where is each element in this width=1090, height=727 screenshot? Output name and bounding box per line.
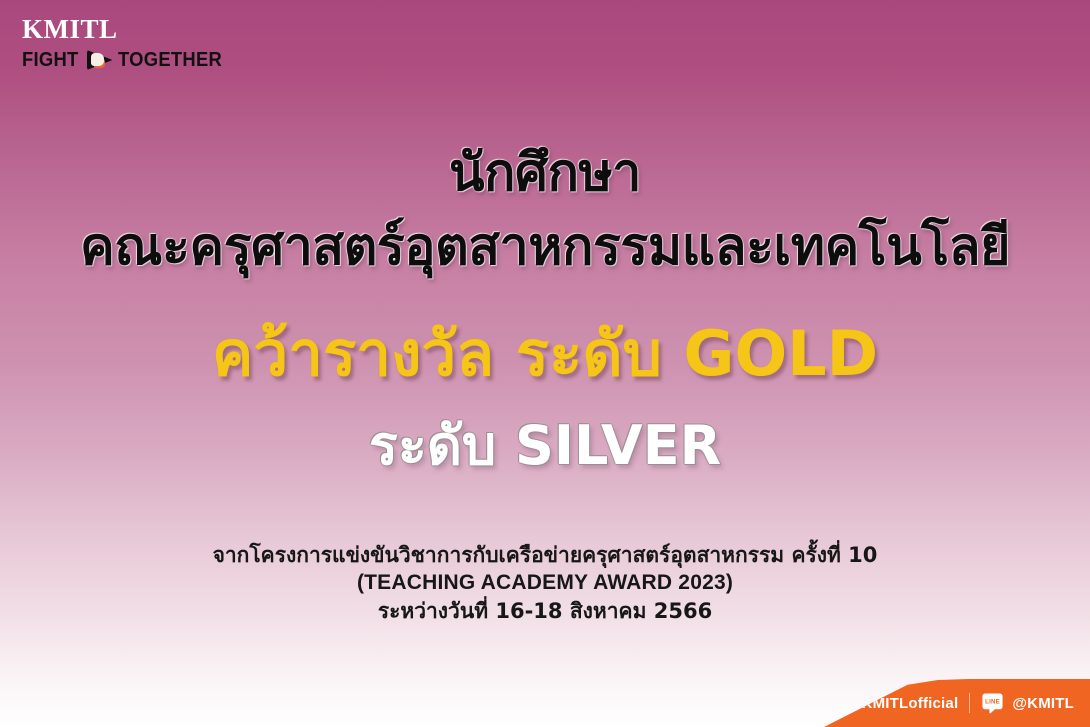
award-silver-text: ระดับ SILVER	[0, 402, 1090, 488]
line-handle[interactable]: @KMITL	[1012, 695, 1074, 712]
event-detail-line-1: จากโครงการแข่งขันวิชาการกับเครือข่ายครุศ…	[0, 541, 1090, 569]
instagram-icon[interactable]	[785, 692, 808, 715]
social-separator-1	[773, 693, 774, 713]
logo-tagline-together: TOGETHER	[118, 50, 222, 70]
event-details: จากโครงการแข่งขันวิชาการกับเครือข่ายครุศ…	[0, 541, 1090, 625]
social-media-bar: KMITLofficial LINE @KMITL	[710, 679, 1090, 727]
social-separator-3	[969, 693, 970, 713]
logo-tagline-fight: FIGHT	[22, 50, 79, 70]
line-icon[interactable]: LINE	[981, 692, 1004, 715]
award-announcement-poster: KMITL FIGHT TOGETHER นักศึกษา คณะครุศาสต…	[0, 0, 1090, 727]
event-detail-line-3: ระหว่างวันที่ 16-18 สิงหาคม 2566	[0, 597, 1090, 625]
headline-students: นักศึกษา	[0, 130, 1090, 213]
svg-text:LINE: LINE	[985, 698, 1000, 705]
social-separator-2	[819, 693, 820, 713]
fist-play-icon	[87, 48, 113, 72]
facebook-icon[interactable]	[739, 692, 762, 715]
award-gold-text: คว้ารางวัล ระดับ GOLD	[0, 305, 1090, 403]
logo-tagline: FIGHT TOGETHER	[22, 48, 222, 72]
headline-faculty: คณะครุศาสตร์อุตสาหกรรมและเทคโนโลยี	[0, 204, 1090, 287]
logo-wordmark: KMITL	[22, 16, 222, 43]
twitter-handle[interactable]: KMITLofficial	[862, 695, 959, 712]
twitter-icon[interactable]	[831, 692, 854, 715]
kmitl-logo: KMITL FIGHT TOGETHER	[22, 16, 222, 72]
event-detail-line-2: (TEACHING ACADEMY AWARD 2023)	[0, 569, 1090, 597]
